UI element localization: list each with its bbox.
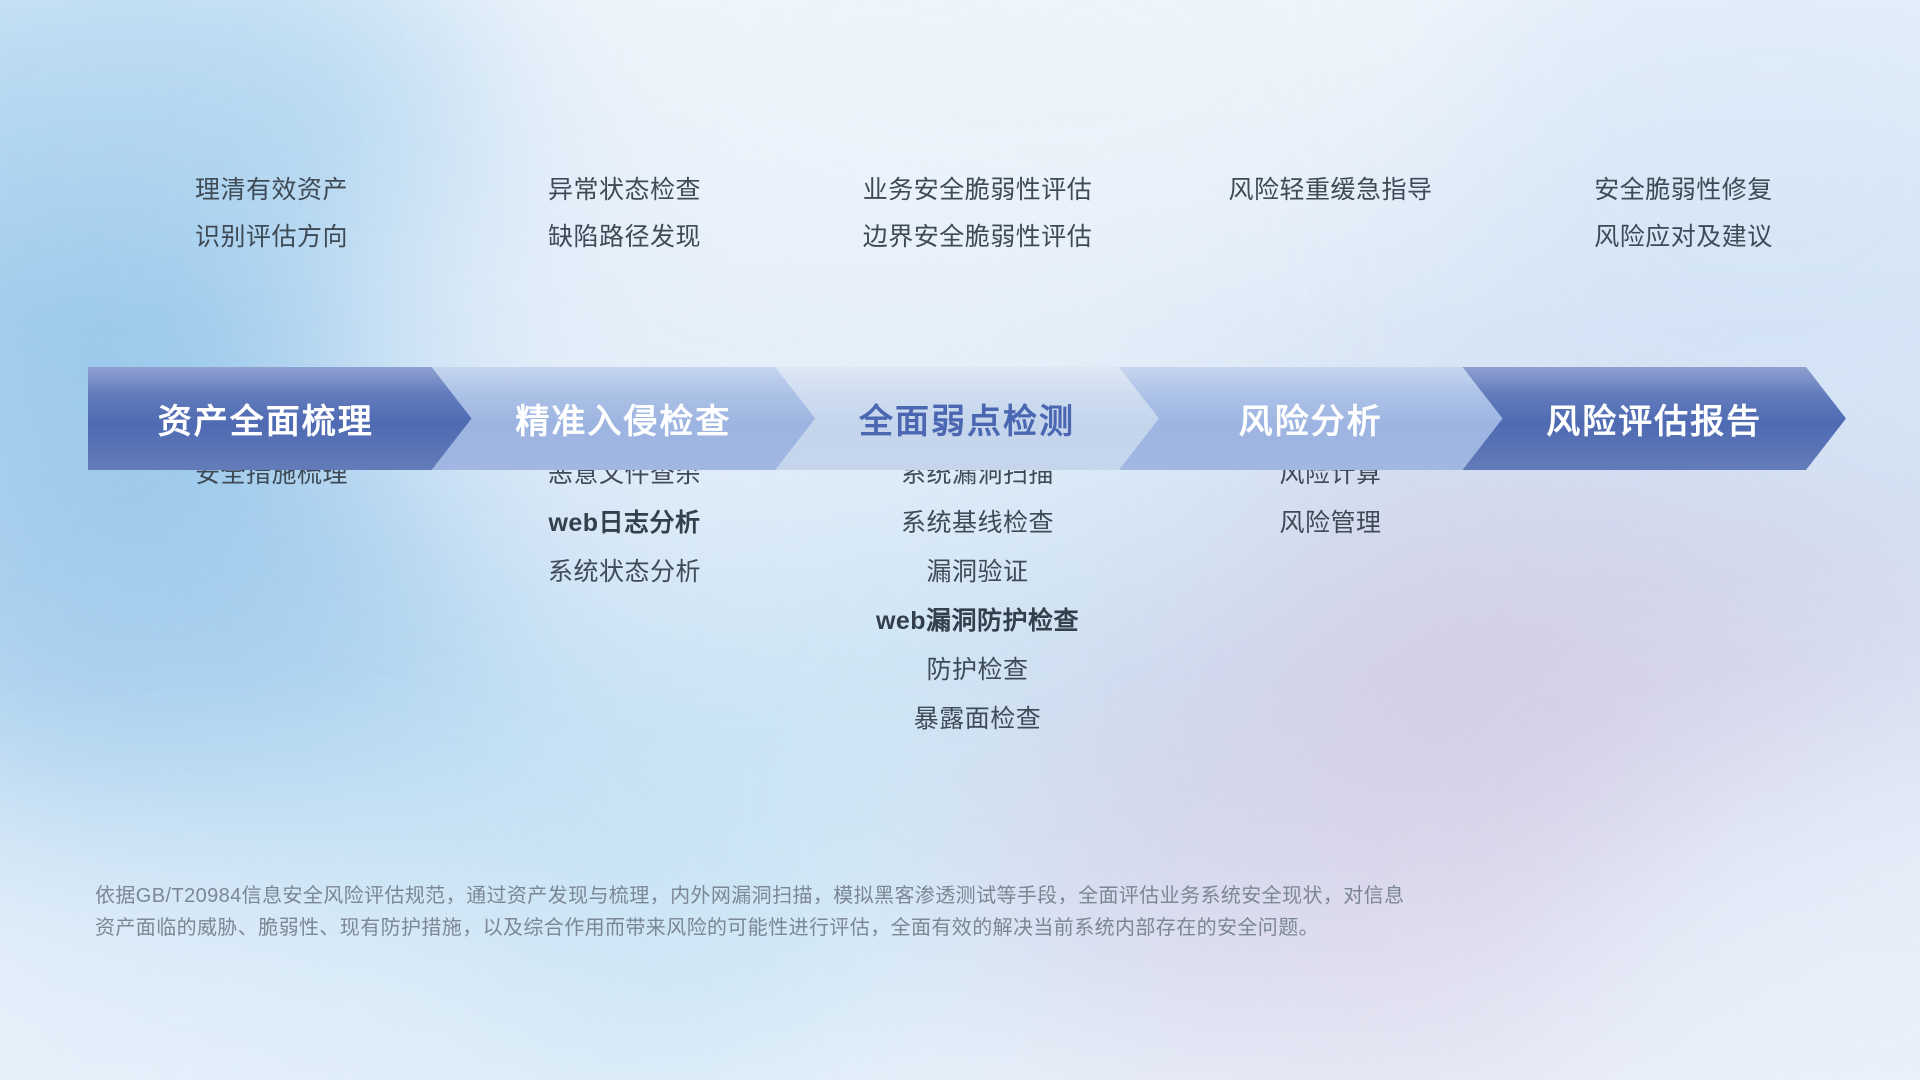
footer-line-1: 依据GB/T20984信息安全风险评估规范，通过资产发现与梳理，内外网漏洞扫描，…: [95, 880, 1615, 912]
stage-bottom-item: web漏洞防护检查: [876, 609, 1079, 634]
stage-bottom-item: 防护检查: [926, 658, 1028, 683]
chevron-label: 资产全面梳理: [158, 394, 374, 443]
chevron-stage-asset-survey[interactable]: 资产全面梳理: [88, 367, 472, 470]
stage-bottom-item: web日志分析: [548, 511, 700, 536]
stage-top-item: 边界安全脆弱性评估: [863, 225, 1093, 250]
stage-bottom-item: 漏洞验证: [926, 560, 1028, 585]
stage-top-item: 安全脆弱性修复: [1594, 178, 1773, 203]
process-diagram: 理清有效资产识别评估方向异常状态检查缺陷路径发现业务安全脆弱性评估边界安全脆弱性…: [0, 0, 1920, 1080]
chevron-label: 精准入侵检查: [515, 394, 731, 443]
chevron-label: 风险分析: [1239, 394, 1383, 443]
stage-top-item: 理清有效资产: [195, 178, 348, 203]
stage-bottom-item: 系统状态分析: [548, 560, 701, 585]
chevron-label: 全面弱点检测: [859, 394, 1075, 443]
stage-top-column-weakness-detection: 业务安全脆弱性评估边界安全脆弱性评估: [801, 178, 1154, 272]
stage-top-item: 风险应对及建议: [1594, 225, 1773, 250]
stage-bottom-item: 暴露面检查: [914, 707, 1042, 732]
stage-bottom-item: 风险管理: [1279, 511, 1381, 536]
chevron-stage-intrusion-check[interactable]: 精准入侵检查: [432, 367, 816, 470]
stage-top-column-asset-survey: 理清有效资产识别评估方向: [95, 178, 448, 272]
chevron-stage-risk-report[interactable]: 风险评估报告: [1462, 367, 1846, 470]
chevron-band: 资产全面梳理精准入侵检查全面弱点检测风险分析风险评估报告: [88, 367, 1846, 470]
chevron-stage-risk-analysis[interactable]: 风险分析: [1119, 367, 1503, 470]
footer-line-2: 资产面临的威胁、脆弱性、现有防护措施，以及综合作用而带来风险的可能性进行评估，全…: [95, 912, 1615, 944]
footer-description: 依据GB/T20984信息安全风险评估规范，通过资产发现与梳理，内外网漏洞扫描，…: [95, 880, 1615, 945]
stage-top-item: 缺陷路径发现: [548, 225, 701, 250]
chevron-label: 风险评估报告: [1546, 394, 1762, 443]
stage-top-items-row: 理清有效资产识别评估方向异常状态检查缺陷路径发现业务安全脆弱性评估边界安全脆弱性…: [95, 178, 1860, 272]
chevron-stage-weakness-detection[interactable]: 全面弱点检测: [775, 367, 1159, 470]
stage-top-item: 风险轻重缓急指导: [1228, 178, 1432, 203]
stage-top-column-risk-analysis: 风险轻重缓急指导: [1154, 178, 1507, 272]
stage-top-column-intrusion-check: 异常状态检查缺陷路径发现: [448, 178, 801, 272]
stage-bottom-item: 系统基线检查: [901, 511, 1054, 536]
stage-top-item: 异常状态检查: [548, 178, 701, 203]
stage-top-item: 业务安全脆弱性评估: [863, 178, 1093, 203]
stage-top-column-risk-report: 安全脆弱性修复风险应对及建议: [1507, 178, 1860, 272]
stage-top-item: 识别评估方向: [195, 225, 348, 250]
